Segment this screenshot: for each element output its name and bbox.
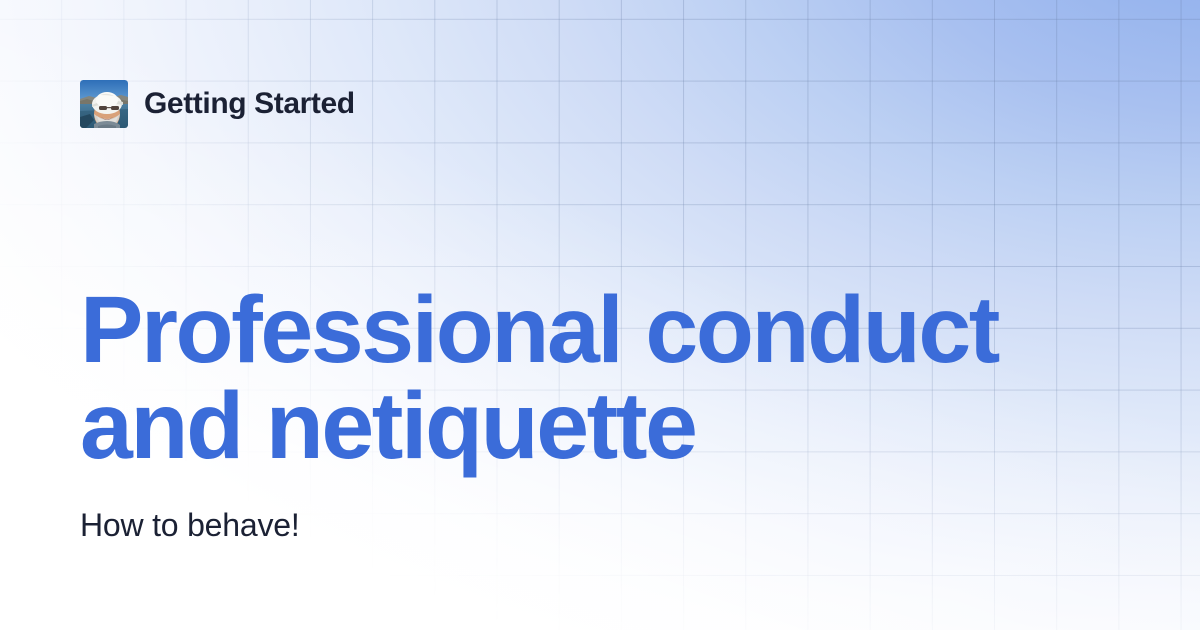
- brand-title: Getting Started: [144, 89, 355, 119]
- og-preview-card: Getting Started Professional conduct and…: [0, 0, 1200, 630]
- card-content: Getting Started Professional conduct and…: [0, 0, 1200, 630]
- brand-row: Getting Started: [80, 80, 355, 128]
- author-avatar-photo-icon: [80, 80, 128, 128]
- page-subtitle: How to behave!: [80, 505, 300, 545]
- page-title: Professional conduct and netiquette: [80, 282, 1090, 474]
